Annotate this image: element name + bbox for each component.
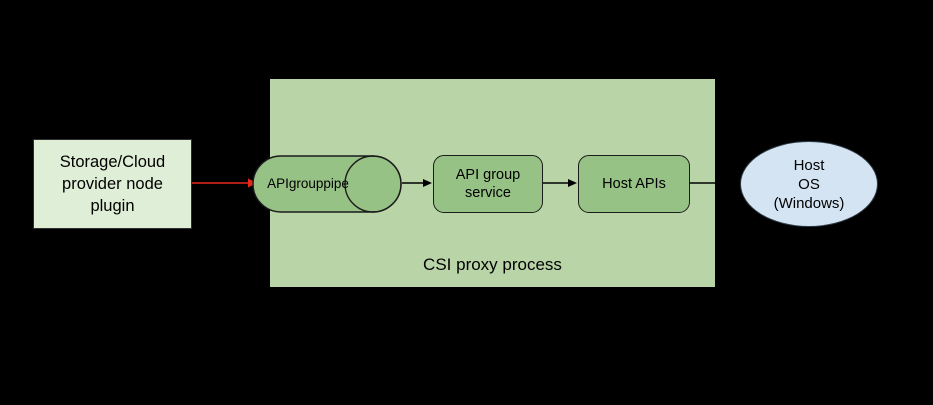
edge-service-to-host-apis [543,176,578,190]
node-host-apis[interactable]: Host APIs [578,155,690,213]
node-host-os[interactable]: Host OS (Windows) [740,141,878,227]
host-os-label: Host OS (Windows) [774,156,845,213]
api-group-pipe-label: API group pipe [252,155,364,213]
node-api-group-service[interactable]: API group service [433,155,543,213]
edge-plugin-to-pipe [192,176,258,190]
api-group-service-label: API group service [456,166,521,202]
node-plugin-label: Storage/Cloud provider node plugin [60,151,166,217]
csi-proxy-process-label: CSI proxy process [270,255,715,275]
edge-pipe-to-service [402,176,433,190]
node-api-group-pipe[interactable]: API group pipe [252,155,402,213]
edge-host-apis-to-host-os [690,180,716,186]
host-apis-label: Host APIs [602,175,666,193]
node-storage-cloud-provider-node-plugin[interactable]: Storage/Cloud provider node plugin [33,139,192,229]
diagram-canvas: Storage/Cloud provider node plugin API g… [0,0,933,405]
